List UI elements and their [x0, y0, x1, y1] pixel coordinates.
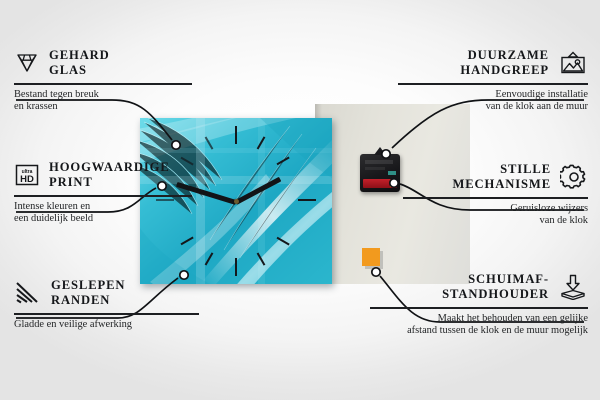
feature-header: SCHUIMAF- STANDHOUDER [370, 272, 588, 302]
feature-header: ultra HD HOOGWAARDIGE PRINT [14, 160, 192, 190]
feature-title: DUURZAME HANDGREEP [460, 48, 549, 78]
feature-duurzame-handgreep: DUURZAME HANDGREEP Eenvoudige installati… [398, 48, 588, 113]
product-feature-infographic: GEHARD GLAS Bestand tegen breuk en krass… [0, 0, 600, 400]
feature-rule [14, 313, 199, 315]
gear-icon [560, 164, 588, 190]
feature-rule [14, 83, 192, 85]
feature-header: GEHARD GLAS [14, 48, 192, 78]
feature-rule [370, 307, 588, 309]
feature-title: GEHARD GLAS [49, 48, 110, 78]
feature-stille-mechanisme: STILLE MECHANISME Geruisloze wijzers van… [403, 162, 588, 227]
feature-gehard-glas: GEHARD GLAS Bestand tegen breuk en krass… [14, 48, 192, 113]
feature-rule [398, 83, 588, 85]
bevelled-edges-icon [14, 281, 42, 305]
diamond-icon [14, 52, 40, 74]
feature-header: GESLEPEN RANDEN [14, 278, 199, 308]
feature-description: Intense kleuren en een duidelijk beeld [14, 201, 192, 226]
feature-hoogwaardige-print: ultra HD HOOGWAARDIGE PRINT Intense kleu… [14, 160, 192, 225]
feature-rule [403, 197, 588, 199]
feature-description: Eenvoudige installatie van de klok aan d… [398, 89, 588, 114]
picture-frame-icon [558, 51, 588, 75]
ultra-hd-icon: ultra HD [14, 163, 40, 187]
feature-header: DUURZAME HANDGREEP [398, 48, 588, 78]
feature-rule [14, 195, 192, 197]
feature-schuimafstandhouder: SCHUIMAF- STANDHOUDER Maakt het behouden… [370, 272, 588, 337]
feature-geslepen-randen: GESLEPEN RANDEN Gladde en veilige afwerk… [14, 278, 199, 331]
feature-title: HOOGWAARDIGE PRINT [49, 160, 170, 190]
feature-title: SCHUIMAF- STANDHOUDER [442, 272, 549, 302]
feature-header: STILLE MECHANISME [403, 162, 588, 192]
feature-title: STILLE MECHANISME [452, 162, 551, 192]
feature-title: GESLEPEN RANDEN [51, 278, 125, 308]
svg-text:HD: HD [20, 174, 34, 185]
feature-description: Geruisloze wijzers van de klok [403, 203, 588, 228]
feature-description: Gladde en veilige afwerking [14, 319, 199, 331]
feature-description: Bestand tegen breuk en krassen [14, 89, 192, 114]
feature-description: Maakt het behouden van een gelijke afsta… [370, 313, 588, 338]
press-down-pad-icon [558, 274, 588, 300]
